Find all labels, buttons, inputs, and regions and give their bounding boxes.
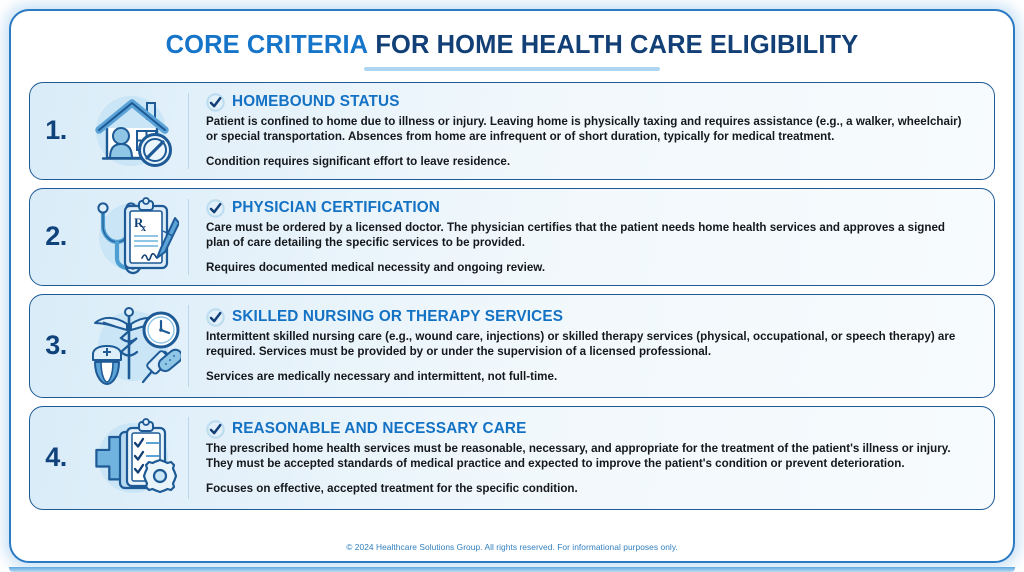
- title-accent-text: CORE CRITERIA: [166, 31, 368, 59]
- card-text-column: SKILLED NURSING OR THERAPY SERVICES Inte…: [189, 295, 994, 397]
- criteria-list: 1.: [29, 82, 995, 535]
- check-circle-icon: [206, 420, 225, 439]
- page-title: CORE CRITERIA FOR HOME HEALTH CARE ELIGI…: [29, 32, 995, 59]
- svg-text:x: x: [141, 223, 146, 234]
- house-person-restricted-icon: [87, 90, 179, 172]
- card-number-column: 2.: [30, 189, 78, 285]
- card-body-text: Patient is confined to home due to illne…: [206, 115, 972, 145]
- card-title: PHYSICIAN CERTIFICATION: [232, 200, 440, 217]
- infographic-frame: CORE CRITERIA FOR HOME HEALTH CARE ELIGI…: [9, 9, 1015, 563]
- card-body-text: The prescribed home health services must…: [206, 442, 972, 472]
- check-circle-icon: [206, 93, 225, 112]
- title-underline-rule: [364, 67, 660, 71]
- card-number-column: 3.: [30, 295, 78, 397]
- card-text-column: HOMEBOUND STATUS Patient is confined to …: [189, 83, 994, 179]
- stethoscope-prescription-pen-icon: R x: [87, 196, 179, 278]
- card-number-column: 4.: [30, 407, 78, 509]
- card-title: SKILLED NURSING OR THERAPY SERVICES: [232, 309, 563, 326]
- check-circle-icon: [206, 199, 225, 218]
- criteria-card-3[interactable]: 3.: [29, 294, 995, 398]
- card-number: 4.: [45, 442, 67, 473]
- infographic-root: CORE CRITERIA FOR HOME HEALTH CARE ELIGI…: [0, 0, 1024, 572]
- criteria-card-2[interactable]: 2.: [29, 188, 995, 286]
- card-icon-column: R x: [78, 189, 188, 285]
- card-title: REASONABLE AND NECESSARY CARE: [232, 421, 526, 438]
- title-main-text: FOR HOME HEALTH CARE ELIGIBILITY: [375, 31, 858, 59]
- card-note-text: Focuses on effective, accepted treatment…: [206, 481, 972, 496]
- card-icon-column: [78, 295, 188, 397]
- caduceus-clock-nurse-syringe-icon: [85, 304, 181, 388]
- card-note-text: Requires documented medical necessity an…: [206, 260, 972, 275]
- footer-copyright: © 2024 Healthcare Solutions Group. All r…: [29, 535, 995, 555]
- card-icon-column: [78, 407, 188, 509]
- check-circle-icon: [206, 308, 225, 327]
- card-note-text: Services are medically necessary and int…: [206, 369, 972, 384]
- card-note-text: Condition requires significant effort to…: [206, 154, 972, 169]
- card-text-column: REASONABLE AND NECESSARY CARE The prescr…: [189, 407, 994, 509]
- card-title: HOMEBOUND STATUS: [232, 94, 400, 111]
- criteria-card-4[interactable]: 4.: [29, 406, 995, 510]
- cross-checklist-gear-icon: [86, 416, 180, 500]
- criteria-card-1[interactable]: 1.: [29, 82, 995, 180]
- card-number: 1.: [45, 115, 67, 146]
- bottom-accent-strip: [9, 567, 1015, 572]
- card-number: 2.: [45, 221, 67, 252]
- card-body-text: Care must be ordered by a licensed docto…: [206, 221, 972, 251]
- card-text-column: PHYSICIAN CERTIFICATION Care must be ord…: [189, 189, 994, 285]
- card-number-column: 1.: [30, 83, 78, 179]
- card-body-text: Intermittent skilled nursing care (e.g.,…: [206, 330, 972, 360]
- header: CORE CRITERIA FOR HOME HEALTH CARE ELIGI…: [29, 21, 995, 71]
- card-number: 3.: [45, 330, 67, 361]
- card-icon-column: [78, 83, 188, 179]
